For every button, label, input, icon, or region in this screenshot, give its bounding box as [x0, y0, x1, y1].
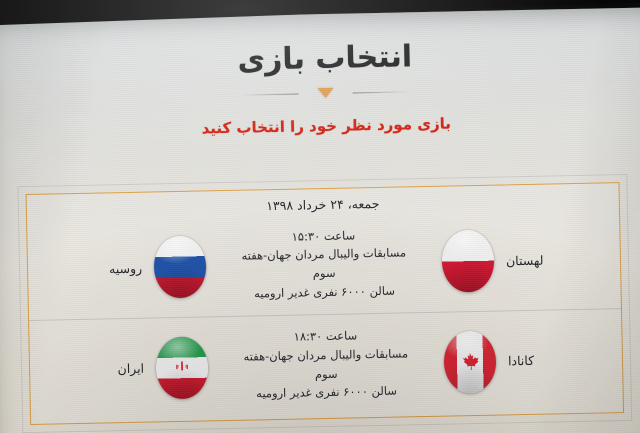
away-team-name: کانادا — [508, 353, 534, 369]
match-list-panel: جمعه، ۲۴ خرداد ۱۳۹۸ لهستان ساعت ۱۵:۳۰ مس… — [26, 182, 625, 425]
home-team-name: ایران — [117, 361, 144, 377]
match-venue: سالن ۶۰۰۰ نفری غدیر ارومیه — [230, 281, 418, 303]
divider-line-left — [241, 93, 299, 95]
away-side: کانادا — [423, 328, 616, 394]
away-team-name: لهستان — [506, 252, 544, 268]
home-side: روسیه — [33, 235, 226, 301]
flag-gloss — [153, 235, 206, 298]
match-details: ساعت ۱۵:۳۰ مسابقات والیبال مردان جهان-هف… — [225, 225, 422, 303]
match-venue: سالن ۶۰۰۰ نفری غدیر ارومیه — [232, 381, 420, 403]
maple-leaf-shape — [459, 350, 481, 372]
table-row[interactable]: لهستان ساعت ۱۵:۳۰ مسابقات والیبال مردان … — [27, 208, 621, 320]
triangle-down-ornament-icon — [317, 87, 333, 97]
home-team-name: روسیه — [109, 260, 142, 276]
iran-emblem-shape — [173, 360, 190, 375]
photographed-screen: انتخاب بازی بازی مورد نظر خود را انتخاب … — [0, 0, 640, 433]
match-details: ساعت ۱۸:۳۰ مسابقات والیبال مردان جهان-هف… — [227, 325, 424, 403]
divider-line-right — [353, 91, 411, 93]
flag-canada-icon — [443, 330, 496, 393]
match-tournament: مسابقات والیبال مردان جهان-هفته سوم — [232, 344, 421, 385]
match-tournament: مسابقات والیبال مردان جهان-هفته سوم — [230, 244, 419, 285]
flag-gloss — [441, 230, 494, 293]
flag-russia-icon — [153, 235, 206, 298]
flag-iran-icon — [155, 336, 208, 399]
away-side: لهستان — [421, 227, 614, 293]
page-subtitle: بازی مورد نظر خود را انتخاب کنید — [2, 110, 640, 141]
table-row[interactable]: کانادا ساعت ۱۸:۳۰ مسابقات والیبال مردان … — [29, 308, 623, 420]
flag-poland-icon — [441, 230, 494, 293]
match-selection-page: انتخاب بازی بازی مورد نظر خود را انتخاب … — [0, 7, 640, 433]
title-divider — [240, 83, 410, 102]
screen-surface: انتخاب بازی بازی مورد نظر خود را انتخاب … — [0, 7, 640, 433]
home-side: ایران — [35, 336, 228, 402]
